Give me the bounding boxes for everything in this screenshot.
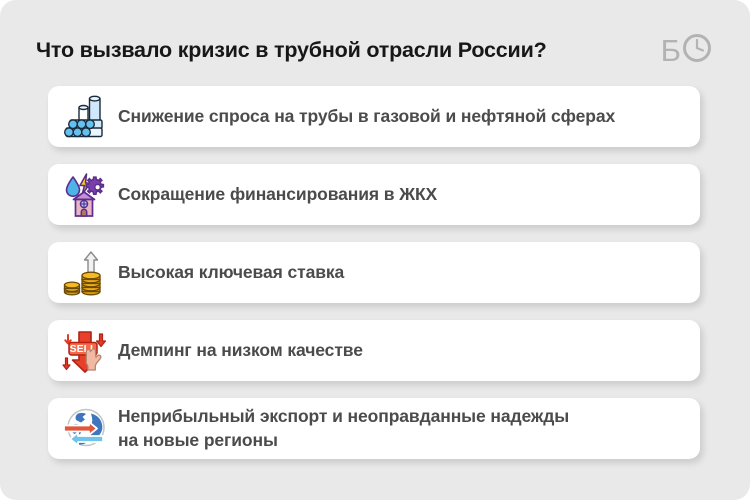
card-label: Неприбыльный экспорт и неоправданные над… [118, 405, 569, 451]
card-label: Снижение спроса на трубы в газовой и неф… [118, 105, 615, 128]
card-label-line1: Сокращение финансирования в ЖКХ [118, 184, 437, 204]
stacked-pipes-icon [58, 90, 112, 144]
card-label-line1: Неприбыльный экспорт и неоправданные над… [118, 406, 569, 426]
cause-card-unprofitable-export[interactable]: Неприбыльный экспорт и неоправданные над… [48, 398, 700, 459]
card-label: Сокращение финансирования в ЖКХ [118, 183, 437, 206]
cause-card-high-key-rate[interactable]: Высокая ключевая ставка [48, 242, 700, 303]
utilities-house-icon [58, 168, 112, 222]
infographic-panel: Что вызвало кризис в трубной отрасли Рос… [0, 0, 750, 500]
cause-card-utilities-funding-cut[interactable]: Сокращение финансирования в ЖКХ [48, 164, 700, 225]
header: Что вызвало кризис в трубной отрасли Рос… [36, 28, 720, 72]
card-label-line1: Высокая ключевая ставка [118, 262, 344, 282]
sell-down-arrow-icon: SELL [58, 324, 112, 378]
card-label-line1: Демпинг на низком качестве [118, 340, 363, 360]
page-title: Что вызвало кризис в трубной отрасли Рос… [36, 38, 547, 63]
logo-letter-b: Б [661, 35, 681, 66]
card-label: Высокая ключевая ставка [118, 261, 344, 284]
card-label-line2: на новые регионы [118, 429, 569, 452]
cause-card-list: Снижение спроса на трубы в газовой и неф… [48, 86, 700, 476]
clock-icon [682, 33, 712, 68]
card-label-line1: Снижение спроса на трубы в газовой и неф… [118, 106, 615, 126]
card-label: Демпинг на низком качестве [118, 339, 363, 362]
globe-exchange-arrows-icon [58, 402, 112, 456]
coin-stacks-up-arrow-icon [58, 246, 112, 300]
brand-logo: Б [661, 33, 712, 68]
cause-card-demand-decline[interactable]: Снижение спроса на трубы в газовой и неф… [48, 86, 700, 147]
cause-card-low-quality-dumping[interactable]: SELL Демпинг на низком качестве [48, 320, 700, 381]
